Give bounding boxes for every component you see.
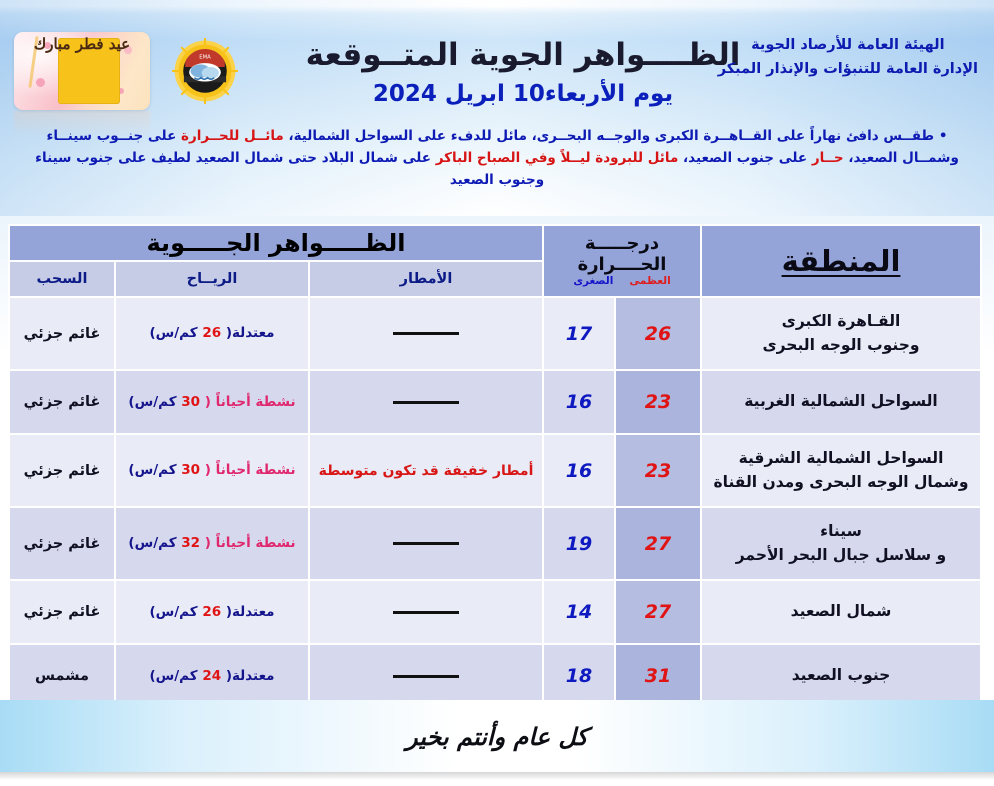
footer-shadow xyxy=(0,772,994,780)
cell-region: السواحل الشمالية الشرقيةوشمال الوجه البح… xyxy=(702,435,980,506)
summary-part-5: حــار xyxy=(812,150,844,166)
cell-temp-min: 16 xyxy=(544,435,614,506)
forecast-page: عيد فطر مبارك xyxy=(0,0,994,786)
cell-cloud: غائم جزئي xyxy=(10,508,114,579)
no-data-dash xyxy=(393,542,459,545)
table-row: القـاهرة الكبرىوجنوب الوجه البحرى2617معت… xyxy=(10,298,980,369)
wind-speed-value: 30 xyxy=(181,462,200,478)
footer-greeting: كل عام وأنتم بخير xyxy=(406,722,588,751)
wind-speed-value: 26 xyxy=(202,604,221,620)
region-line-2: وجنوب الوجه البحرى xyxy=(702,334,980,357)
table-body: القـاهرة الكبرىوجنوب الوجه البحرى2617معت… xyxy=(10,298,980,707)
cell-temp-max: 23 xyxy=(616,371,700,433)
cell-temp-max: 23 xyxy=(616,435,700,506)
table-row: سيناءو سلاسل جبال البحر الأحمر2719نشطة أ… xyxy=(10,508,980,579)
cell-cloud: غائم جزئي xyxy=(10,435,114,506)
wind-speed-value: 32 xyxy=(181,535,200,551)
bullet-icon: • xyxy=(939,128,948,144)
region-line-2: و سلاسل جبال البحر الأحمر xyxy=(702,544,980,567)
temp-legend-max: العظمى xyxy=(629,276,670,288)
cell-rain xyxy=(310,581,542,643)
column-header-region: المنطقة xyxy=(702,226,980,296)
summary-part-1: طقــس دافئ نهاراً على القــاهــرة الكبرى… xyxy=(532,128,935,144)
table-row: شمال الصعيد2714معتدلة( 26 كم/س)غائم جزئي xyxy=(10,581,980,643)
cell-cloud: مشمس xyxy=(10,645,114,707)
cell-rain: أمطار خفيفة قد تكون متوسطة xyxy=(310,435,542,506)
wind-speed-unit: كم/س) xyxy=(149,325,197,341)
rain-text: أمطار خفيفة قد تكون متوسطة xyxy=(319,463,534,479)
wind-speed-value: 30 xyxy=(181,394,200,410)
temp-legend: العظمى الصغرى xyxy=(544,276,700,288)
header-row-top: المنطقة درجـــــة الحــــرارة العظمى الص… xyxy=(10,226,980,260)
cell-wind: نشطة أحياناً ( 32 كم/س) xyxy=(116,508,308,579)
cell-cloud: غائم جزئي xyxy=(10,298,114,369)
region-line-1: السواحل الشمالية الغربية xyxy=(702,390,980,413)
column-header-wind: الريــاح xyxy=(116,262,308,296)
table-row: جنوب الصعيد3118معتدلة( 24 كم/س)مشمس xyxy=(10,645,980,707)
cell-region: سيناءو سلاسل جبال البحر الأحمر xyxy=(702,508,980,579)
no-data-dash xyxy=(393,401,459,404)
wind-speed-unit: كم/س) xyxy=(128,394,176,410)
cell-temp-min: 14 xyxy=(544,581,614,643)
cell-wind: معتدلة( 26 كم/س) xyxy=(116,298,308,369)
summary-part-2: مائل للدفء على السواحل الشمالية، xyxy=(288,128,526,144)
cell-region: القـاهرة الكبرىوجنوب الوجه البحرى xyxy=(702,298,980,369)
no-data-dash xyxy=(393,332,459,335)
cell-cloud: غائم جزئي xyxy=(10,371,114,433)
cell-wind: معتدلة( 24 كم/س) xyxy=(116,645,308,707)
cell-wind: معتدلة( 26 كم/س) xyxy=(116,581,308,643)
region-line-2: وشمال الوجه البحرى ومدن القناة xyxy=(702,471,980,494)
cell-temp-max: 27 xyxy=(616,508,700,579)
temp-header-line1: درجـــــة xyxy=(544,234,700,254)
temp-header-line2: الحــــرارة xyxy=(544,255,700,275)
temp-legend-min: الصغرى xyxy=(573,276,613,288)
column-header-phenomena: الظـــــواهر الجـــــوية xyxy=(10,226,542,260)
wind-description: نشطة أحياناً ( xyxy=(205,535,296,551)
summary-part-6: على جنوب الصعيد، xyxy=(683,150,807,166)
wind-speed-value: 26 xyxy=(202,325,221,341)
region-line-1: شمال الصعيد xyxy=(702,600,980,623)
cell-cloud: غائم جزئي xyxy=(10,581,114,643)
footer: كل عام وأنتم بخير xyxy=(0,700,994,772)
wind-description: نشطة أحياناً ( xyxy=(205,394,296,410)
summary-part-7: مائل للبرودة ليــلاً وفي الصباح الباكر xyxy=(436,150,679,166)
ema-sun-logo: EMA xyxy=(172,38,238,104)
wind-description: نشطة أحياناً ( xyxy=(205,462,296,478)
wind-speed-unit: كم/س) xyxy=(128,535,176,551)
wind-speed-value: 24 xyxy=(202,668,221,684)
wind-speed-unit: كم/س) xyxy=(128,462,176,478)
cell-temp-min: 19 xyxy=(544,508,614,579)
svg-text:EMA: EMA xyxy=(199,54,211,60)
cell-wind: نشطة أحياناً ( 30 كم/س) xyxy=(116,371,308,433)
forecast-summary: • طقــس دافئ نهاراً على القــاهــرة الكب… xyxy=(22,126,972,192)
department-name: الإدارة العامة للتنبؤات والإنذار المبكر xyxy=(718,58,978,82)
cell-temp-min: 17 xyxy=(544,298,614,369)
column-header-temperature: درجـــــة الحــــرارة العظمى الصغرى xyxy=(544,226,700,296)
cell-rain xyxy=(310,645,542,707)
region-line-1: سيناء xyxy=(702,520,980,543)
cell-rain xyxy=(310,508,542,579)
column-header-cloud: السحب xyxy=(10,262,114,296)
no-data-dash xyxy=(393,675,459,678)
summary-part-3: مائــل للحــرارة xyxy=(181,128,284,144)
cell-temp-max: 31 xyxy=(616,645,700,707)
cell-temp-min: 16 xyxy=(544,371,614,433)
cell-temp-max: 27 xyxy=(616,581,700,643)
wind-description: معتدلة( xyxy=(226,325,275,341)
region-line-1: جنوب الصعيد xyxy=(702,664,980,687)
cell-rain xyxy=(310,371,542,433)
cell-region: شمال الصعيد xyxy=(702,581,980,643)
wind-speed-unit: كم/س) xyxy=(149,668,197,684)
region-line-1: القـاهرة الكبرى xyxy=(702,310,980,333)
table-row: السواحل الشمالية الشرقيةوشمال الوجه البح… xyxy=(10,435,980,506)
no-data-dash xyxy=(393,611,459,614)
wind-description: معتدلة( xyxy=(226,604,275,620)
cell-rain xyxy=(310,298,542,369)
organization-block: الهيئة العامة للأرصاد الجوية الإدارة الع… xyxy=(718,34,978,82)
cell-temp-min: 18 xyxy=(544,645,614,707)
eid-card-text: عيد فطر مبارك xyxy=(14,35,150,110)
table-head: المنطقة درجـــــة الحــــرارة العظمى الص… xyxy=(10,226,980,296)
column-header-rain: الأمطار xyxy=(310,262,542,296)
forecast-table-wrapper: المنطقة درجـــــة الحــــرارة العظمى الص… xyxy=(12,224,982,709)
region-line-1: السواحل الشمالية الشرقية xyxy=(702,447,980,470)
cell-temp-max: 26 xyxy=(616,298,700,369)
cell-region: السواحل الشمالية الغربية xyxy=(702,371,980,433)
wind-speed-unit: كم/س) xyxy=(149,604,197,620)
cell-wind: نشطة أحياناً ( 30 كم/س) xyxy=(116,435,308,506)
wind-description: معتدلة( xyxy=(226,668,275,684)
cell-region: جنوب الصعيد xyxy=(702,645,980,707)
eid-greeting-card-image: عيد فطر مبارك xyxy=(14,32,150,110)
table-row: السواحل الشمالية الغربية2316نشطة أحياناً… xyxy=(10,371,980,433)
organization-name: الهيئة العامة للأرصاد الجوية xyxy=(718,34,978,58)
forecast-table: المنطقة درجـــــة الحــــرارة العظمى الص… xyxy=(8,224,982,709)
